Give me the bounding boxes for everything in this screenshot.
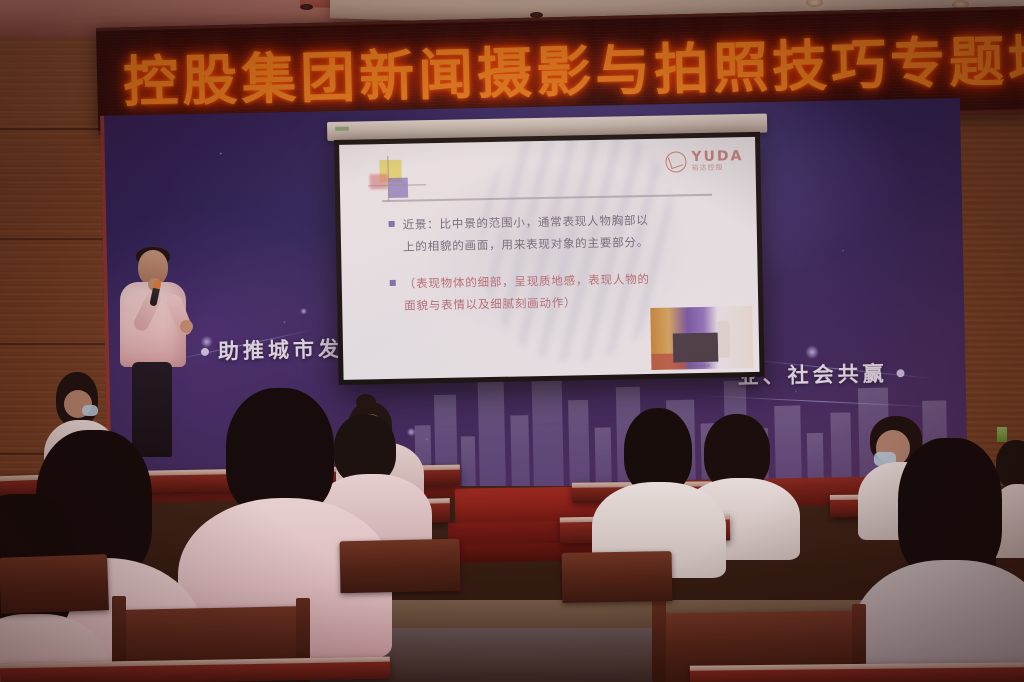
projection-screen: YUDA 裕达控股 近景：比中景的范围小，通常表现人物胸部以 上的相貌的画面，用… — [334, 132, 765, 385]
attendee-hair — [226, 388, 334, 516]
yuda-logo-mark-icon — [665, 151, 686, 172]
yuda-logo-cn: 裕达控股 — [692, 164, 744, 172]
backdrop-bullet-icon — [896, 369, 904, 377]
attendee-center — [596, 408, 718, 558]
slide-thumbnail-photo: 新闻摄影技巧培训 — [650, 306, 753, 370]
speaker-right-hand — [180, 320, 193, 333]
chair-mid-right — [562, 551, 673, 603]
backdrop-slogan-left: 助推城市发 — [201, 333, 344, 366]
slide-bullet-item: 近景：比中景的范围小，通常表现人物胸部以 上的相貌的画面，用来表现对象的主要部分… — [388, 207, 735, 258]
chair-mid-left — [0, 554, 109, 614]
slide-bullet-text: 近景：比中景的范围小，通常表现人物胸部以 上的相貌的画面，用来表现对象的主要部分… — [402, 209, 649, 259]
thumbnail-person — [718, 320, 730, 357]
bullet-square-icon — [389, 221, 395, 227]
deco-square-purple — [388, 178, 408, 198]
face-mask — [82, 405, 98, 416]
attendee-center-front — [178, 388, 374, 638]
yuda-logo: YUDA 裕达控股 — [665, 149, 743, 173]
slide-bullet-text: （表现物体的细部，呈现质地感，表现人物的 面貌与表情以及细腻刻画动作） — [404, 268, 651, 318]
deco-square-red — [370, 174, 388, 189]
screen-indicator — [335, 127, 349, 131]
yuda-logo-en: YUDA — [691, 149, 743, 165]
attendee-right-grey — [860, 438, 1024, 682]
chair-mid-center — [339, 539, 460, 594]
backdrop-bullet-icon — [201, 347, 209, 355]
ceiling-downlight — [300, 4, 313, 10]
presentation-slide: YUDA 裕达控股 近景：比中景的范围小，通常表现人物胸部以 上的相貌的画面，用… — [339, 137, 759, 380]
desk-front-right — [690, 662, 1024, 682]
thumbnail-caption: 新闻摄影技巧培训 — [680, 363, 710, 369]
conference-hall-photo: 控股集团新闻摄影与拍照技巧专题培训 — [0, 0, 1024, 682]
bullet-square-icon — [390, 280, 396, 286]
slide-decoration — [369, 157, 428, 202]
thumbnail-equipment — [673, 333, 718, 362]
chair-post — [652, 600, 666, 682]
backdrop-glow-dot — [300, 308, 307, 315]
